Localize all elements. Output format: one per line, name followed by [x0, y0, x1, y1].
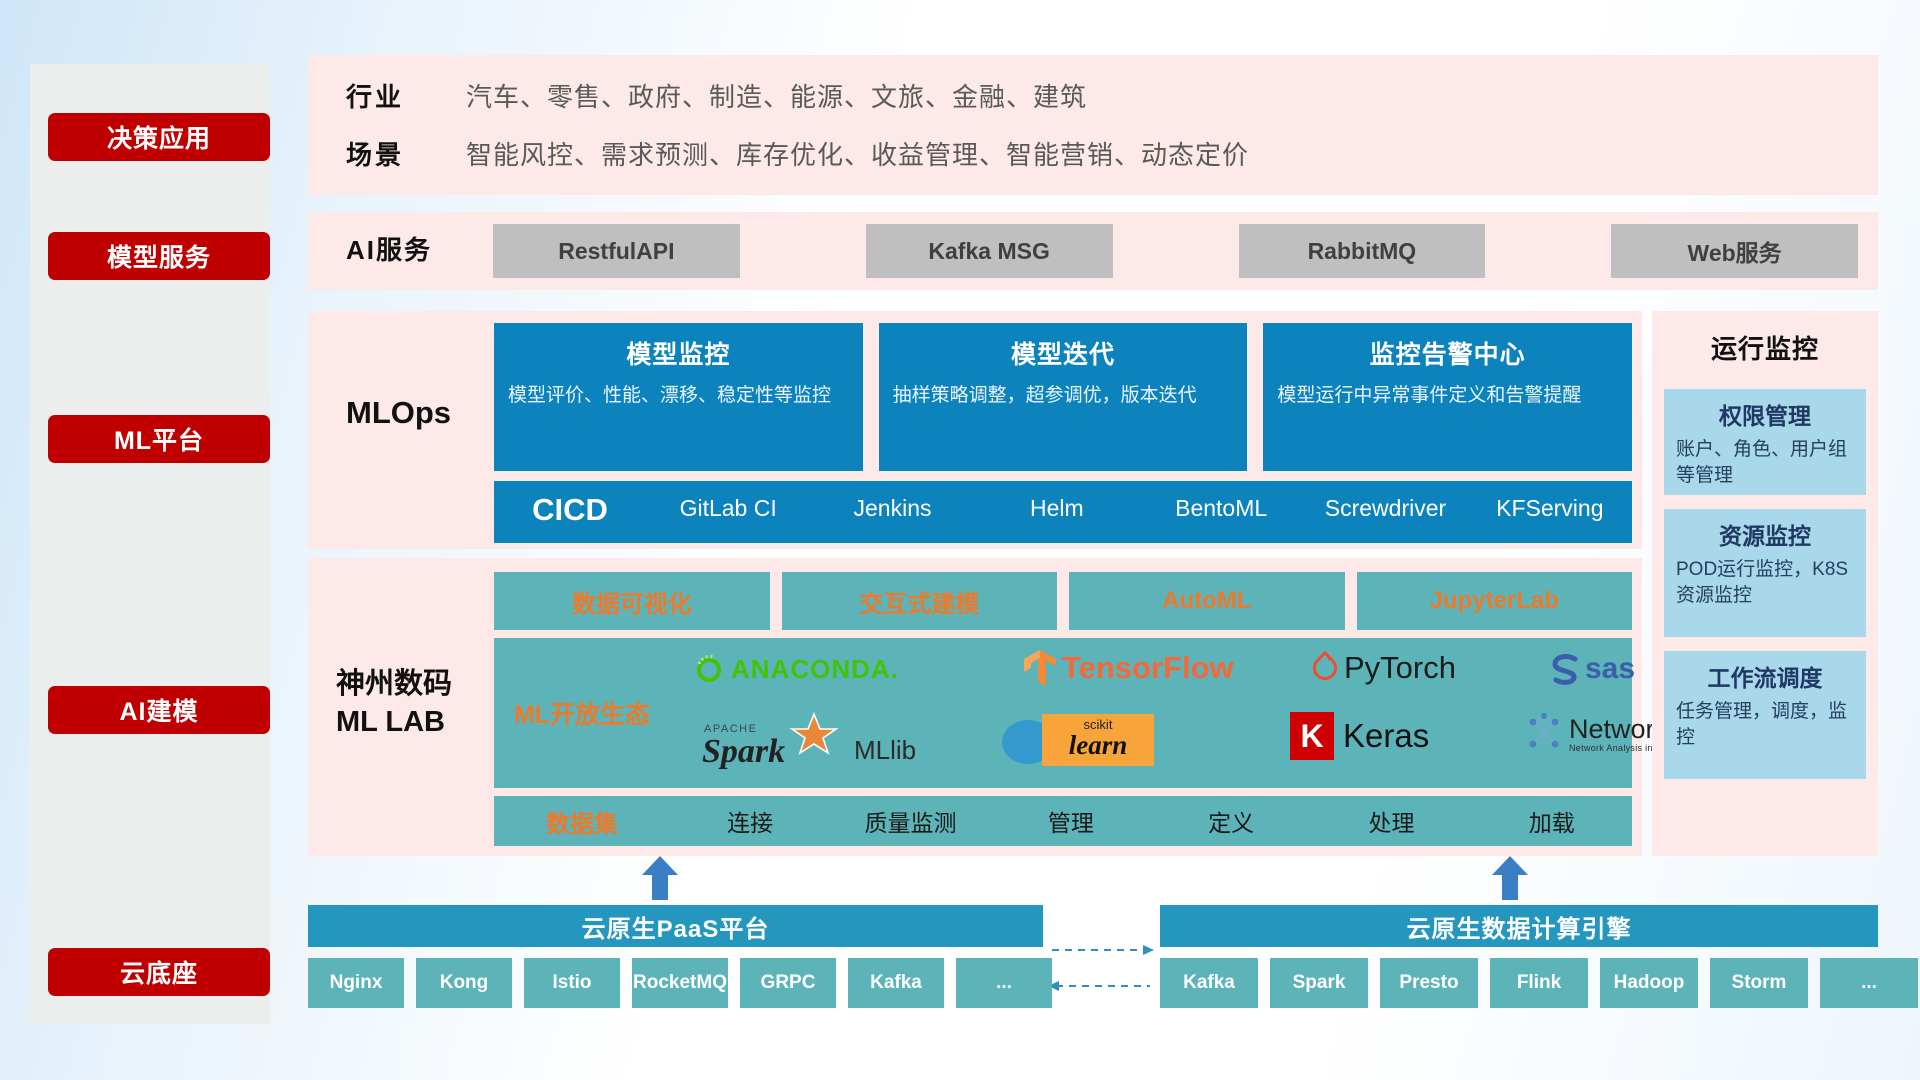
left-label-text: 模型服务 — [107, 238, 211, 274]
sas-icon — [1550, 653, 1584, 685]
ml-lab-tool-automl[interactable]: AutoML — [1069, 572, 1345, 630]
left-label-decision-app[interactable]: 决策应用 — [48, 113, 270, 161]
scenario-row: 场景 智能风控、需求预测、库存优化、收益管理、智能营销、动态定价 — [346, 135, 1249, 172]
dataset-item-connect[interactable]: 连接 — [670, 804, 830, 838]
mlops-card-model-monitoring[interactable]: 模型监控 模型评价、性能、漂移、稳定性等监控 — [494, 323, 863, 471]
up-arrow-icon — [1490, 856, 1530, 900]
sas-logo-text: sas — [1585, 652, 1635, 686]
paas-chip-kong[interactable]: Kong — [416, 958, 512, 1008]
mlops-card-list: 模型监控 模型评价、性能、漂移、稳定性等监控 模型迭代 抽样策略调整，超参调优，… — [494, 323, 1632, 471]
cicd-item-screwdriver[interactable]: Screwdriver — [1303, 481, 1467, 522]
up-arrow-left — [640, 856, 680, 900]
dataset-item-define[interactable]: 定义 — [1151, 804, 1311, 838]
dataset-item-process[interactable]: 处理 — [1311, 804, 1471, 838]
paas-chip-kafka[interactable]: Kafka — [848, 958, 944, 1008]
left-label-model-service[interactable]: 模型服务 — [48, 232, 270, 280]
keras-badge-letter: K — [1300, 718, 1323, 755]
mlops-card-alert-center[interactable]: 监控告警中心 模型运行中异常事件定义和告警提醒 — [1263, 323, 1632, 471]
paas-chip-grpc[interactable]: GRPC — [740, 958, 836, 1008]
industry-label: 行业 — [346, 77, 466, 114]
card-head: 权限管理 — [1676, 397, 1854, 431]
left-label-text: AI建模 — [119, 692, 198, 728]
ml-lab-label-line1: 神州数码 — [336, 666, 496, 704]
card-body: 账户、角色、用户组等管理 — [1676, 437, 1854, 488]
pytorch-logo: PyTorch — [1310, 650, 1456, 686]
spark-icon: APACHE Spark — [702, 712, 852, 770]
left-label-ml-platform[interactable]: ML平台 — [48, 415, 270, 463]
keras-badge-icon: K — [1290, 712, 1334, 760]
paas-platform-bar[interactable]: 云原生PaaS平台 — [308, 905, 1043, 947]
dataset-bar: 数据集 连接 质量监测 管理 定义 处理 加载 — [494, 796, 1632, 846]
learn-text: learn — [1042, 732, 1154, 759]
sas-logo: sas — [1550, 652, 1635, 686]
ai-service-chip[interactable]: RestfulAPI — [493, 224, 740, 278]
scenario-label: 场景 — [346, 135, 466, 172]
cicd-bar: CICD GitLab CI Jenkins Helm BentoML Scre… — [494, 481, 1632, 543]
card-body: 抽样策略调整，超参调优，版本迭代 — [893, 383, 1234, 409]
left-label-text: 云底座 — [120, 954, 198, 990]
industry-row: 行业 汽车、零售、政府、制造、能源、文旅、金融、建筑 — [346, 77, 1087, 114]
left-label-text: ML平台 — [114, 421, 204, 457]
ml-lab-tool-jupyterlab[interactable]: JupyterLab — [1357, 572, 1633, 630]
cicd-item-gitlab[interactable]: GitLab CI — [646, 481, 810, 522]
paas-chip-istio[interactable]: Istio — [524, 958, 620, 1008]
compute-chip-storm[interactable]: Storm — [1710, 958, 1808, 1008]
mllib-logo-text: MLlib — [854, 735, 916, 766]
mlops-band: MLOps 模型监控 模型评价、性能、漂移、稳定性等监控 模型迭代 抽样策略调整… — [308, 311, 1642, 549]
sidebar-title: 运行监控 — [1652, 329, 1878, 366]
card-head: 工作流调度 — [1676, 659, 1854, 693]
cicd-item-kfserving[interactable]: KFServing — [1468, 481, 1632, 522]
ml-open-ecosystem-panel: ML开放生态 ANACONDA. TensorFlow — [494, 638, 1632, 788]
keras-logo: K Keras — [1290, 712, 1429, 760]
compute-chip-presto[interactable]: Presto — [1380, 958, 1478, 1008]
ml-lab-tool-interactive-modeling[interactable]: 交互式建模 — [782, 572, 1058, 630]
ml-lab-band: 神州数码 ML LAB 数据可视化 交互式建模 AutoML JupyterLa… — [308, 558, 1642, 856]
ml-lab-tool-list: 数据可视化 交互式建模 AutoML JupyterLab — [494, 572, 1632, 630]
card-title: 模型监控 — [508, 335, 849, 371]
left-label-text: 决策应用 — [107, 119, 211, 155]
paas-chip-nginx[interactable]: Nginx — [308, 958, 404, 1008]
anaconda-logo-text: ANACONDA. — [731, 654, 899, 685]
dataset-item-quality-monitor[interactable]: 质量监测 — [830, 804, 990, 838]
compute-chip-hadoop[interactable]: Hadoop — [1600, 958, 1698, 1008]
ai-service-chip[interactable]: Web服务 — [1611, 224, 1858, 278]
left-label-column — [30, 64, 270, 1024]
bidirectional-connector — [1046, 940, 1156, 1002]
anaconda-logo: ANACONDA. — [692, 652, 899, 686]
dataset-label: 数据集 — [494, 804, 670, 839]
scikit-learn-badge: scikit learn — [1042, 714, 1154, 766]
compute-chip-list: Kafka Spark Presto Flink Hadoop Storm ..… — [1160, 958, 1918, 1008]
dashed-arrows-icon — [1046, 940, 1156, 1002]
paas-chip-list: Nginx Kong Istio RocketMQ GRPC Kafka ... — [308, 958, 1052, 1008]
networkx-icon — [1525, 712, 1565, 756]
ecosystem-logo-area: ANACONDA. TensorFlow PyTorch — [670, 638, 1632, 788]
tensorflow-logo: TensorFlow — [1022, 648, 1234, 688]
dataset-item-load[interactable]: 加载 — [1472, 804, 1632, 838]
paas-chip-more[interactable]: ... — [956, 958, 1052, 1008]
data-compute-engine-bar[interactable]: 云原生数据计算引擎 — [1160, 905, 1878, 947]
left-label-cloud-base[interactable]: 云底座 — [48, 948, 270, 996]
cicd-item-helm[interactable]: Helm — [975, 481, 1139, 522]
industry-value: 汽车、零售、政府、制造、能源、文旅、金融、建筑 — [466, 77, 1087, 114]
card-body: 任务管理，调度，监控 — [1676, 699, 1854, 750]
mlops-card-model-iteration[interactable]: 模型迭代 抽样策略调整，超参调优，版本迭代 — [879, 323, 1248, 471]
pytorch-icon — [1310, 651, 1340, 685]
ml-lab-label: 神州数码 ML LAB — [336, 666, 496, 741]
tensorflow-icon — [1022, 648, 1058, 688]
card-title: 监控告警中心 — [1277, 335, 1618, 371]
ml-open-ecosystem-label: ML开放生态 — [494, 695, 670, 731]
scenario-value: 智能风控、需求预测、库存优化、收益管理、智能营销、动态定价 — [466, 135, 1249, 172]
card-head: 资源监控 — [1676, 517, 1854, 551]
ai-service-band: AI服务 RestfulAPI Kafka MSG RabbitMQ Web服务 — [308, 212, 1878, 290]
cicd-item-jenkins[interactable]: Jenkins — [810, 481, 974, 522]
spark-mllib-logo: APACHE Spark MLlib — [702, 712, 916, 770]
cicd-item-bentoml[interactable]: BentoML — [1139, 481, 1303, 522]
ai-service-chip[interactable]: RabbitMQ — [1239, 224, 1486, 278]
ai-service-label: AI服务 — [346, 230, 476, 267]
tensorflow-logo-text: TensorFlow — [1062, 650, 1234, 686]
compute-chip-more[interactable]: ... — [1820, 958, 1918, 1008]
paas-chip-rocketmq[interactable]: RocketMQ — [632, 958, 728, 1008]
ai-service-chip-list: RestfulAPI Kafka MSG RabbitMQ Web服务 — [493, 224, 1858, 278]
mlops-label: MLOps — [346, 395, 496, 431]
keras-logo-text: Keras — [1343, 717, 1429, 755]
svg-text:Spark: Spark — [702, 733, 785, 770]
card-body: POD运行监控，K8S资源监控 — [1676, 557, 1854, 608]
card-title: 模型迭代 — [893, 335, 1234, 371]
anaconda-icon — [692, 652, 726, 686]
ml-lab-label-line2: ML LAB — [336, 704, 496, 742]
up-arrow-right — [1490, 856, 1530, 900]
runtime-monitoring-sidebar: 运行监控 权限管理 账户、角色、用户组等管理 资源监控 POD运行监控，K8S资… — [1652, 311, 1878, 856]
ml-lab-tool-data-visualization[interactable]: 数据可视化 — [494, 572, 770, 630]
sidebar-card-workflow[interactable]: 工作流调度 任务管理，调度，监控 — [1664, 651, 1866, 779]
ai-service-chip[interactable]: Kafka MSG — [866, 224, 1113, 278]
sidebar-card-resource[interactable]: 资源监控 POD运行监控，K8S资源监控 — [1664, 509, 1866, 637]
compute-chip-spark[interactable]: Spark — [1270, 958, 1368, 1008]
left-label-ai-modeling[interactable]: AI建模 — [48, 686, 270, 734]
card-body: 模型运行中异常事件定义和告警提醒 — [1277, 383, 1618, 409]
industry-scenario-band: 行业 汽车、零售、政府、制造、能源、文旅、金融、建筑 场景 智能风控、需求预测、… — [308, 55, 1878, 195]
pytorch-logo-text: PyTorch — [1344, 650, 1456, 686]
card-body: 模型评价、性能、漂移、稳定性等监控 — [508, 383, 849, 409]
dataset-item-manage[interactable]: 管理 — [991, 804, 1151, 838]
architecture-diagram: 决策应用 模型服务 ML平台 AI建模 云底座 行业 汽车、零售、政府、制造、能… — [0, 0, 1920, 1080]
compute-chip-flink[interactable]: Flink — [1490, 958, 1588, 1008]
cicd-label: CICD — [494, 481, 646, 528]
scikit-learn-logo: scikit learn — [1000, 712, 1062, 768]
sidebar-card-permission[interactable]: 权限管理 账户、角色、用户组等管理 — [1664, 389, 1866, 495]
compute-chip-kafka[interactable]: Kafka — [1160, 958, 1258, 1008]
up-arrow-icon — [640, 856, 680, 900]
